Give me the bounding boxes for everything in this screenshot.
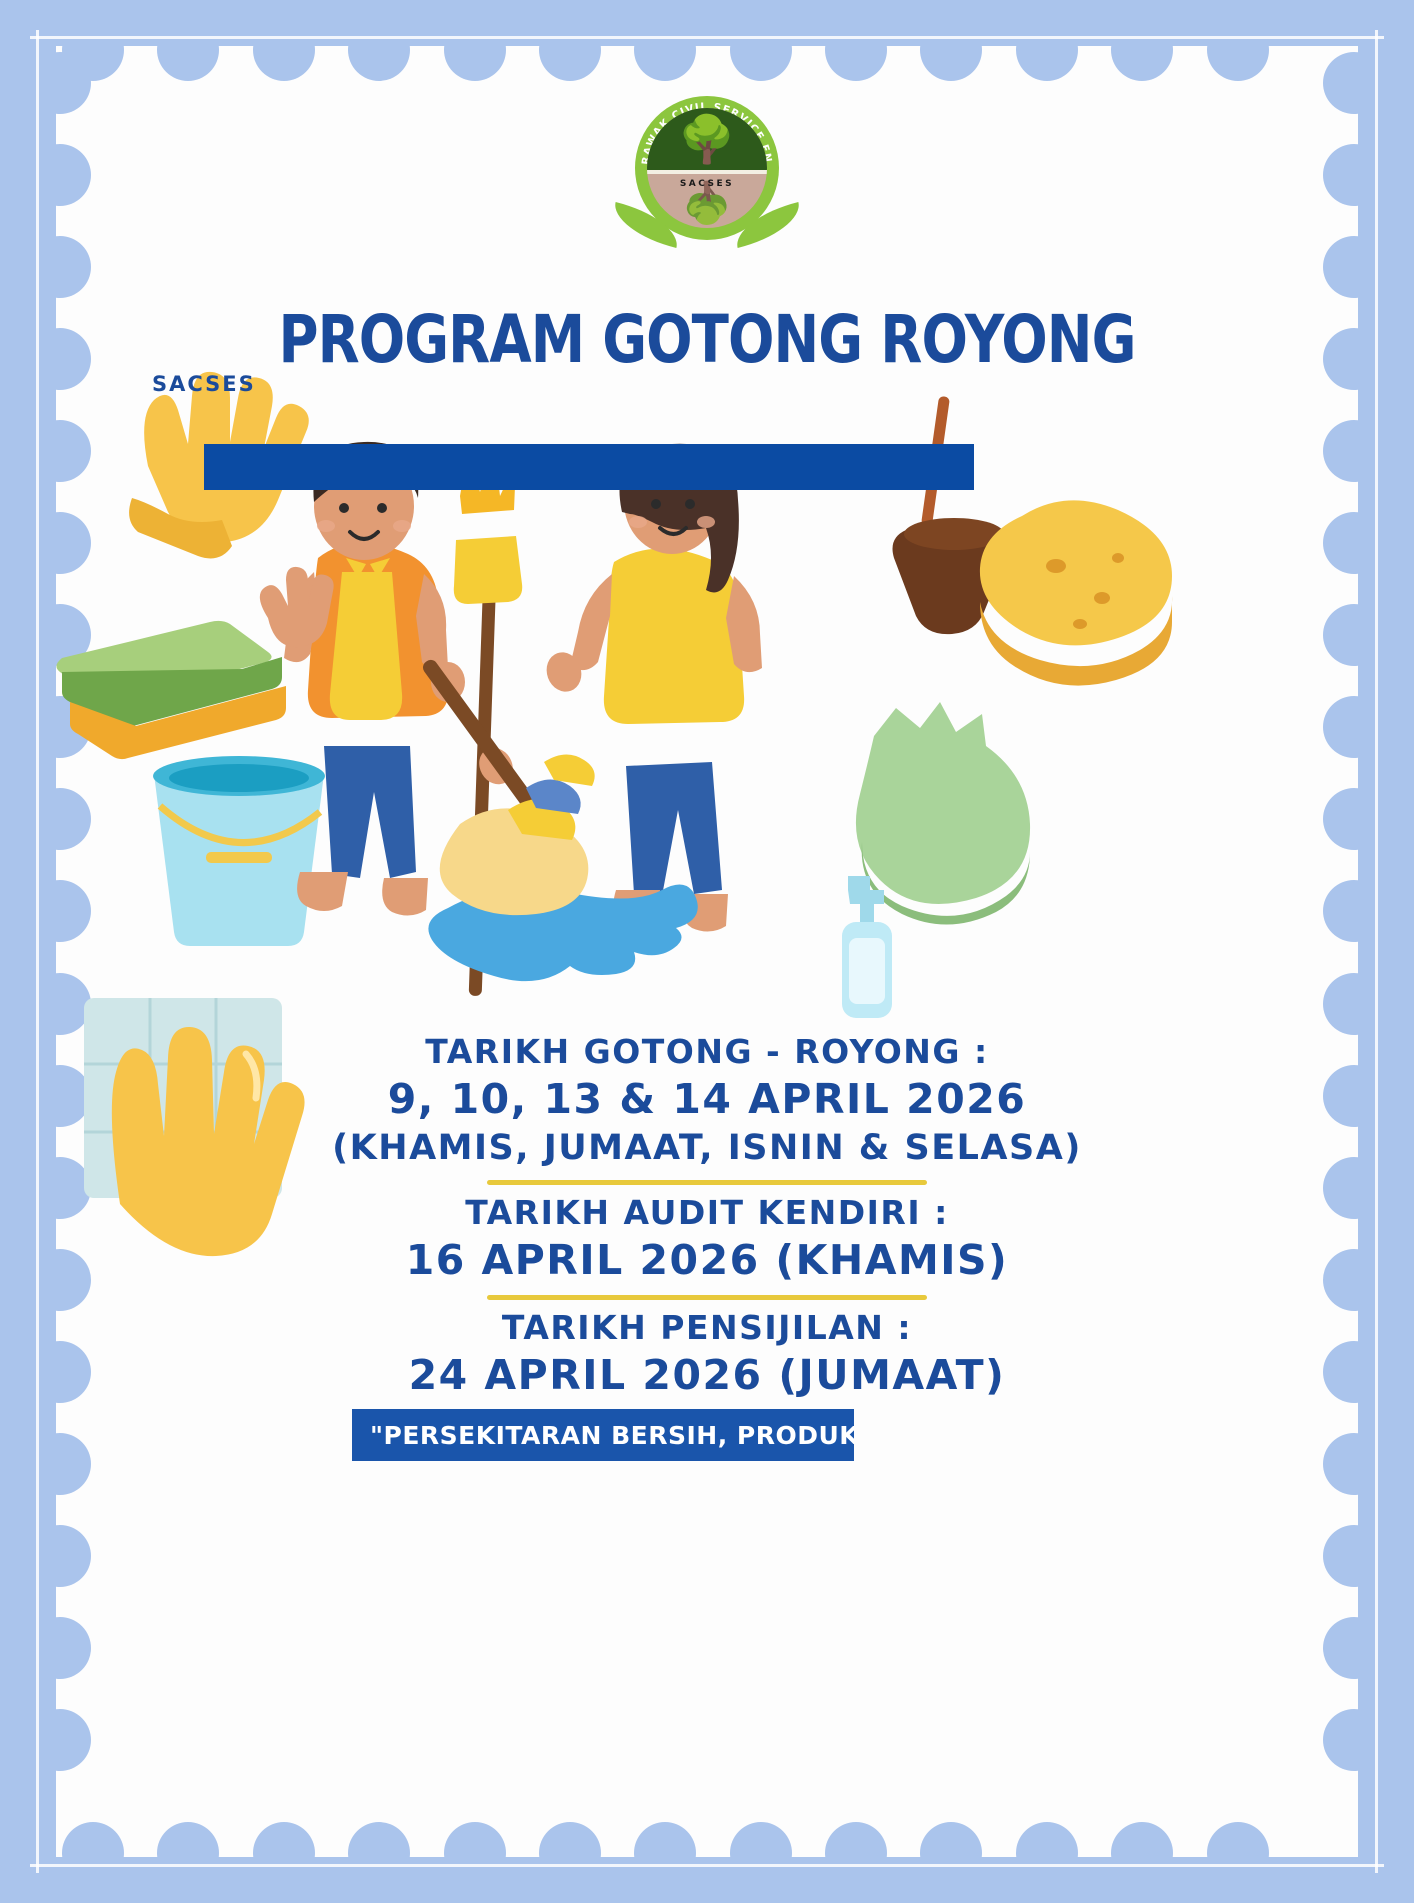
frame-hairline-right [1375, 30, 1378, 1873]
page-subtitle: SACSES [152, 372, 256, 396]
blue-placeholder-bar [204, 444, 974, 490]
pensijilan-label: TARIKH PENSIJILAN : [56, 1307, 1358, 1349]
frame-hairline-bottom [30, 1864, 1384, 1867]
tagline-banner: "PERSEKITARAN BERSIH, PRODUKTIVITI MENIN… [352, 1409, 854, 1461]
pensijilan-date: 24 APRIL 2026 (JUMAAT) [56, 1349, 1358, 1401]
blue-bucket-icon [153, 756, 325, 946]
gotong-royong-days: (KHAMIS, JUMAAT, ISNIN & SELASA) [56, 1126, 1358, 1171]
frame-hairline-left [36, 30, 39, 1873]
green-sponge-icon [56, 621, 286, 759]
divider-rule-2 [487, 1295, 927, 1300]
gotong-royong-label: TARIKH GOTONG - ROYONG : [56, 1031, 1358, 1073]
gotong-royong-date: 9, 10, 13 & 14 APRIL 2026 [56, 1073, 1358, 1125]
page-title: PROGRAM GOTONG ROYONG [108, 301, 1306, 378]
audit-kendiri-date: 16 APRIL 2026 (KHAMIS) [56, 1234, 1358, 1286]
poster-sheet: STANDARD SARAWAK CIVIL SERVICE ENVIRONME… [56, 46, 1358, 1857]
poster-canvas: STANDARD SARAWAK CIVIL SERVICE ENVIRONME… [0, 0, 1414, 1903]
tagline-text: "PERSEKITARAN BERSIH, PRODUKTIVITI MENIN… [352, 1421, 854, 1450]
audit-kendiri-label: TARIKH AUDIT KENDIRI : [56, 1192, 1358, 1234]
orange-sponge-icon [980, 500, 1172, 685]
frame-hairline-top [30, 36, 1384, 39]
divider-rule-1 [487, 1180, 927, 1185]
mop-icon [420, 657, 594, 915]
dates-block: TARIKH GOTONG - ROYONG : 9, 10, 13 & 14 … [56, 1031, 1358, 1402]
